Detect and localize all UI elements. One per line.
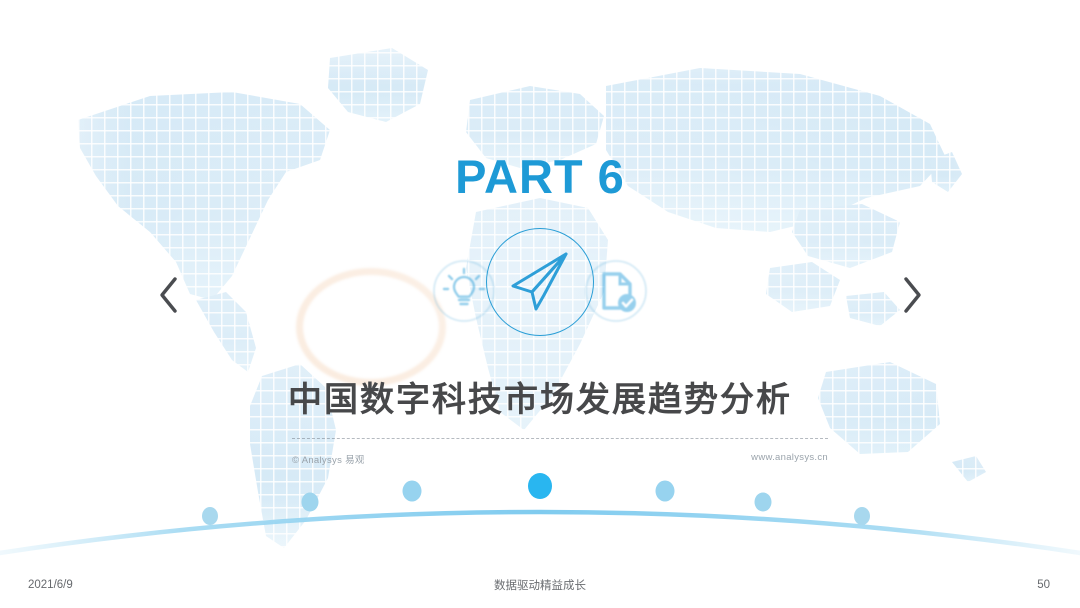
dot-6[interactable] [755,493,772,512]
dot-5[interactable] [656,481,675,502]
next-slide-button[interactable] [895,273,929,317]
chevron-right-icon [899,275,925,315]
prev-slide-button[interactable] [152,273,186,317]
document-check-icon-ring [585,260,647,322]
part-label: PART 6 [0,149,1080,204]
dot-4[interactable] [528,473,552,499]
chevron-left-icon [156,275,182,315]
page-title: 中国数字科技市场发展趋势分析 [0,372,1080,421]
footer-tagline: 数据驱动精益成长 [0,577,1080,593]
slide-footer: 2021/6/9 数据驱动精益成长 50 [0,562,1080,608]
document-check-icon [585,260,647,322]
divider [292,438,828,439]
progress-arc [0,440,1080,560]
dot-7[interactable] [854,507,870,525]
progress-arc-graphic [0,440,1080,560]
footer-page-number: 50 [1037,579,1050,591]
presentation-slide: PART 6 [0,0,1080,608]
dot-1[interactable] [202,507,218,525]
paper-plane-icon [486,228,594,336]
paper-plane-glyph [506,248,574,316]
dot-2[interactable] [302,493,319,512]
dot-3[interactable] [403,481,422,502]
